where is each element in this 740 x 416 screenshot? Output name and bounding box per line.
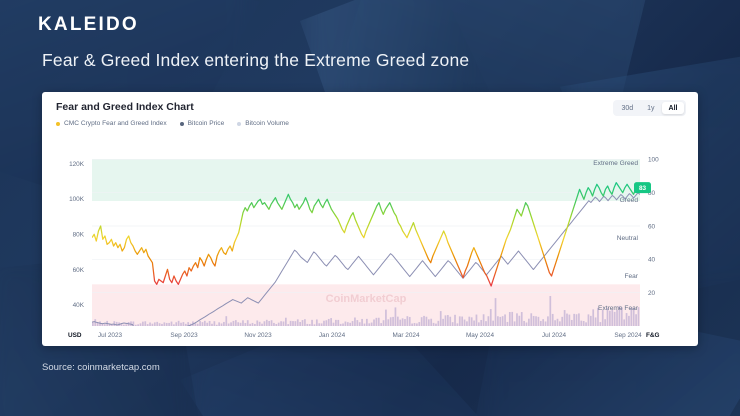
- volume-bar: [576, 314, 578, 326]
- volume-bar: [385, 310, 387, 326]
- volume-bar: [518, 316, 520, 326]
- volume-bar: [476, 315, 478, 326]
- volume-bar: [268, 321, 270, 326]
- y-axis-left-tick: 60K: [73, 267, 85, 274]
- volume-bar: [183, 322, 185, 326]
- volume-bar: [376, 318, 378, 326]
- range-button-30d[interactable]: 30d: [615, 102, 640, 114]
- volume-bar: [421, 317, 423, 326]
- volume-bar: [264, 321, 266, 326]
- volume-bar: [509, 312, 511, 326]
- volume-bar: [256, 320, 258, 326]
- volume-bar: [538, 317, 540, 326]
- legend-label-price: Bitcoin Price: [188, 120, 225, 127]
- chart-card: Fear and Greed Index Chart CMC Crypto Fe…: [42, 92, 698, 346]
- volume-bar: [161, 324, 163, 326]
- legend-item-price[interactable]: Bitcoin Price: [180, 120, 225, 127]
- volume-bar: [571, 320, 573, 326]
- volume-bar: [390, 317, 392, 326]
- volume-bar: [244, 323, 246, 326]
- volume-bar: [516, 313, 518, 326]
- volume-bar: [364, 324, 366, 326]
- volume-bar: [454, 315, 456, 326]
- zone-label-extreme-greed: Extreme Greed: [593, 160, 638, 167]
- volume-bar: [326, 320, 328, 326]
- volume-bar: [545, 321, 547, 326]
- volume-bar: [225, 316, 227, 326]
- volume-bar: [311, 320, 313, 326]
- volume-bar: [433, 323, 435, 326]
- volume-bar: [614, 312, 616, 326]
- volume-bar: [347, 322, 349, 326]
- volume-bar: [387, 319, 389, 326]
- volume-bar: [473, 321, 475, 327]
- x-axis-tick: Mar 2024: [393, 332, 420, 339]
- volume-bar: [611, 310, 613, 326]
- volume-bar: [492, 321, 494, 326]
- volume-bar: [549, 296, 551, 326]
- volume-bar: [147, 324, 149, 326]
- volume-bar: [163, 322, 165, 326]
- y-axis-right-tick: 40: [648, 257, 656, 264]
- x-axis-tick: Jan 2024: [319, 332, 346, 339]
- volume-bar: [171, 322, 173, 326]
- volume-bar: [626, 313, 628, 326]
- volume-bar: [199, 321, 201, 326]
- volume-bar: [214, 321, 216, 326]
- volume-bar: [380, 323, 382, 326]
- zone-label-greed: Greed: [620, 197, 639, 204]
- chart-title: Fear and Greed Index Chart: [56, 101, 194, 113]
- volume-bar: [440, 311, 442, 326]
- volume-bar: [202, 322, 204, 326]
- legend-item-index[interactable]: CMC Crypto Fear and Greed Index: [56, 120, 167, 127]
- y-axis-right-ticks: 20406080100: [648, 157, 659, 297]
- y-axis-left-tick: 40K: [73, 302, 85, 309]
- volume-bar: [290, 321, 292, 326]
- volume-bar: [254, 324, 256, 326]
- volume-bar: [345, 322, 347, 326]
- volume-bar: [206, 323, 208, 326]
- volume-bar: [306, 324, 308, 326]
- volume-bar: [361, 319, 363, 326]
- volume-bar: [445, 315, 447, 326]
- volume-bar: [483, 314, 485, 326]
- volume-bar: [590, 316, 592, 326]
- legend-item-volume[interactable]: Bitcoin Volume: [237, 120, 289, 127]
- y-axis-right-caption: F&G: [646, 332, 660, 339]
- current-value-badge-text: 83: [639, 185, 647, 192]
- volume-bar: [261, 324, 263, 326]
- volume-bar: [271, 320, 273, 326]
- chart-plot-area[interactable]: CoinMarketCap Extreme Greed Greed Neutra…: [42, 140, 698, 346]
- volume-bar: [299, 322, 301, 326]
- volume-bar: [230, 322, 232, 326]
- x-axis-tick: Jul 2024: [542, 332, 567, 339]
- volume-bar: [235, 320, 237, 326]
- y-axis-left-ticks: 40K60K80K100K120K: [69, 161, 85, 309]
- volume-bar: [211, 324, 213, 326]
- volume-bar: [561, 317, 563, 326]
- volume-bar: [573, 314, 575, 326]
- volume-bar: [552, 314, 554, 326]
- volume-bar: [278, 323, 280, 326]
- volume-bar: [628, 316, 630, 326]
- volume-bar: [392, 317, 394, 326]
- volume-bar: [464, 320, 466, 326]
- volume-bar: [233, 321, 235, 326]
- volume-bar: [602, 310, 604, 326]
- volume-bar: [318, 323, 320, 326]
- volume-bar: [366, 319, 368, 326]
- volume-bar: [295, 321, 297, 326]
- volume-bar: [533, 316, 535, 326]
- watermark-text: CoinMarketCap: [326, 293, 407, 305]
- volume-bar: [423, 316, 425, 326]
- volume-bar: [409, 317, 411, 326]
- volume-bar: [216, 325, 218, 326]
- page-title: Fear & Greed Index entering the Extreme …: [42, 50, 469, 71]
- volume-bar: [92, 323, 94, 326]
- volume-bar: [595, 317, 597, 326]
- legend-label-volume: Bitcoin Volume: [245, 120, 289, 127]
- volume-bar: [354, 318, 356, 326]
- volume-bar: [314, 324, 316, 326]
- volume-bar: [442, 319, 444, 326]
- volume-bar: [499, 317, 501, 326]
- volume-bar: [154, 322, 156, 326]
- legend-label-index: CMC Crypto Fear and Greed Index: [64, 120, 167, 127]
- volume-bar: [285, 318, 287, 326]
- x-axis-tick: May 2024: [466, 332, 495, 339]
- volume-bar: [426, 317, 428, 326]
- volume-bar: [478, 322, 480, 326]
- volume-bar: [249, 324, 251, 326]
- y-axis-right-tick: 20: [648, 290, 656, 297]
- volume-bar: [468, 317, 470, 326]
- volume-bar: [559, 321, 561, 326]
- chart-legend: CMC Crypto Fear and Greed Index Bitcoin …: [56, 120, 289, 127]
- volume-bar: [168, 323, 170, 326]
- volume-bar: [333, 323, 335, 326]
- y-axis-left-caption: USD: [68, 332, 82, 339]
- volume-bar: [437, 321, 439, 326]
- volume-bar: [287, 324, 289, 326]
- volume-bar: [449, 317, 451, 326]
- volume-bar: [142, 322, 144, 326]
- volume-bar: [457, 323, 459, 326]
- volume-bar: [435, 324, 437, 326]
- volume-bar: [321, 323, 323, 326]
- volume-bar: [242, 320, 244, 326]
- volume-bar: [497, 316, 499, 326]
- volume-bar: [280, 321, 282, 326]
- volume-bar: [383, 320, 385, 326]
- volume-bar: [144, 321, 146, 326]
- range-button-1y[interactable]: 1y: [641, 102, 661, 114]
- volume-bar: [228, 324, 230, 326]
- volume-bar: [592, 309, 594, 326]
- volume-bar: [140, 323, 142, 326]
- volume-bar: [604, 319, 606, 326]
- volume-bar: [337, 320, 339, 326]
- volume-bar: [578, 313, 580, 326]
- volume-bar: [521, 312, 523, 326]
- volume-bar: [609, 311, 611, 326]
- volume-bar: [221, 323, 223, 326]
- volume-bar: [430, 319, 432, 326]
- volume-bar: [273, 323, 275, 326]
- volume-bar: [340, 324, 342, 326]
- volume-bar: [623, 319, 625, 326]
- volume-bar: [356, 320, 358, 326]
- volume-bar: [399, 320, 401, 326]
- volume-bar: [275, 324, 277, 326]
- y-axis-right-tick: 100: [648, 157, 659, 164]
- volume-bar: [635, 314, 637, 326]
- legend-dot-icon: [237, 122, 241, 126]
- volume-bar: [209, 321, 211, 326]
- volume-bar: [304, 319, 306, 326]
- volume-bar: [514, 321, 516, 326]
- volume-bar: [397, 317, 399, 326]
- current-value-badge: 83: [634, 182, 651, 193]
- volume-bar: [588, 314, 590, 326]
- volume-bar: [283, 321, 285, 326]
- volume-bar: [471, 317, 473, 326]
- volume-bar: [564, 310, 566, 326]
- volume-bar: [566, 314, 568, 326]
- volume-bar: [349, 323, 351, 326]
- volume-bar: [121, 324, 123, 326]
- volume-bar: [323, 321, 325, 326]
- volume-bar: [113, 321, 115, 326]
- y-axis-left-tick: 100K: [69, 196, 85, 203]
- volume-bar: [266, 320, 268, 326]
- volume-bar: [123, 325, 125, 326]
- source-caption: Source: coinmarketcap.com: [42, 362, 160, 373]
- volume-bar: [480, 320, 482, 326]
- volume-bar: [466, 321, 468, 326]
- zone-label-fear: Fear: [624, 273, 638, 280]
- volume-bar: [554, 320, 556, 326]
- volume-bar: [173, 324, 175, 326]
- y-axis-left-tick: 80K: [73, 232, 85, 239]
- volume-bar: [197, 324, 199, 326]
- volume-bar: [580, 321, 582, 326]
- volume-bar: [309, 324, 311, 326]
- volume-bar: [528, 319, 530, 326]
- volume-bar: [502, 316, 504, 326]
- brand-logo: KALEIDO: [38, 14, 139, 36]
- volume-bar: [371, 323, 373, 326]
- volume-bar: [373, 319, 375, 326]
- zone-label-extreme-fear: Extreme Fear: [598, 305, 639, 312]
- volume-bar: [523, 321, 525, 326]
- volume-bar: [490, 309, 492, 326]
- volume-bar: [352, 321, 354, 326]
- volume-bar: [452, 322, 454, 326]
- volume-bar: [585, 322, 587, 326]
- volume-bar: [175, 322, 177, 326]
- legend-dot-icon: [180, 122, 184, 126]
- volume-bar: [252, 323, 254, 326]
- volume-bar: [204, 321, 206, 326]
- volume-bar: [414, 323, 416, 326]
- volume-bar: [180, 323, 182, 326]
- volume-bar: [526, 322, 528, 326]
- x-axis-tick: Nov 2023: [244, 332, 272, 339]
- volume-bar: [461, 317, 463, 326]
- volume-bar: [330, 318, 332, 326]
- volume-bar: [488, 316, 490, 326]
- volume-bar: [583, 321, 585, 326]
- volume-bar: [530, 313, 532, 326]
- volume-bar: [485, 321, 487, 326]
- volume-bar: [402, 318, 404, 326]
- volume-bar: [237, 322, 239, 326]
- volume-bar: [292, 321, 294, 326]
- volume-bar: [547, 316, 549, 326]
- volume-bar: [178, 321, 180, 326]
- volume-bar: [104, 324, 106, 326]
- volume-bar: [569, 315, 571, 326]
- volume-bar: [542, 319, 544, 326]
- volume-bar: [297, 319, 299, 326]
- volume-bar: [616, 310, 618, 326]
- volume-bar: [335, 320, 337, 326]
- volume-bar: [535, 316, 537, 326]
- volume-bar: [218, 322, 220, 326]
- volume-bar: [418, 322, 420, 326]
- volume-bar: [359, 322, 361, 326]
- volume-bar: [152, 324, 154, 326]
- volume-bar: [404, 319, 406, 326]
- volume-bar: [407, 316, 409, 326]
- volume-bar: [395, 307, 397, 326]
- volume-bar: [459, 316, 461, 326]
- volume-bar: [368, 323, 370, 326]
- volume-bar: [495, 298, 497, 326]
- volume-bar: [540, 321, 542, 326]
- volume-bar: [342, 323, 344, 326]
- volume-bar: [135, 325, 137, 326]
- volume-bar: [159, 323, 161, 326]
- x-axis-tick: Jul 2023: [98, 332, 123, 339]
- volume-bar: [504, 314, 506, 326]
- volume-bar: [259, 322, 261, 326]
- x-axis-tick: Sep 2024: [614, 332, 642, 339]
- x-axis-tick: Sep 2023: [170, 332, 198, 339]
- volume-bar: [185, 324, 187, 326]
- volume-bar: [125, 324, 127, 326]
- legend-dot-icon: [56, 122, 60, 126]
- volume-bar: [240, 323, 242, 326]
- volume-bar: [428, 319, 430, 326]
- volume-bar: [316, 319, 318, 326]
- volume-bar: [247, 320, 249, 326]
- volume-bar: [557, 319, 559, 326]
- volume-bar: [600, 322, 602, 326]
- volume-bar: [166, 323, 168, 326]
- volume-bar: [507, 322, 509, 326]
- volume-bar: [416, 323, 418, 326]
- chart-svg: CoinMarketCap Extreme Greed Greed Neutra…: [42, 140, 698, 346]
- volume-bar: [411, 324, 413, 326]
- volume-bar: [223, 322, 225, 326]
- volume-bar: [137, 324, 139, 326]
- time-range-switch[interactable]: 30d 1y All: [613, 100, 686, 116]
- volume-bar: [511, 312, 513, 326]
- volume-bar: [302, 320, 304, 326]
- volume-bar: [156, 322, 158, 326]
- volume-bar: [378, 318, 380, 326]
- range-button-all[interactable]: All: [662, 102, 684, 114]
- y-axis-left-tick: 120K: [69, 161, 85, 168]
- volume-bar: [328, 319, 330, 326]
- volume-bar: [447, 315, 449, 326]
- y-axis-right-tick: 60: [648, 223, 656, 230]
- x-axis-ticks: Jul 2023Sep 2023Nov 2023Jan 2024Mar 2024…: [98, 332, 642, 339]
- volume-bar: [149, 323, 151, 326]
- zone-label-neutral: Neutral: [617, 235, 639, 242]
